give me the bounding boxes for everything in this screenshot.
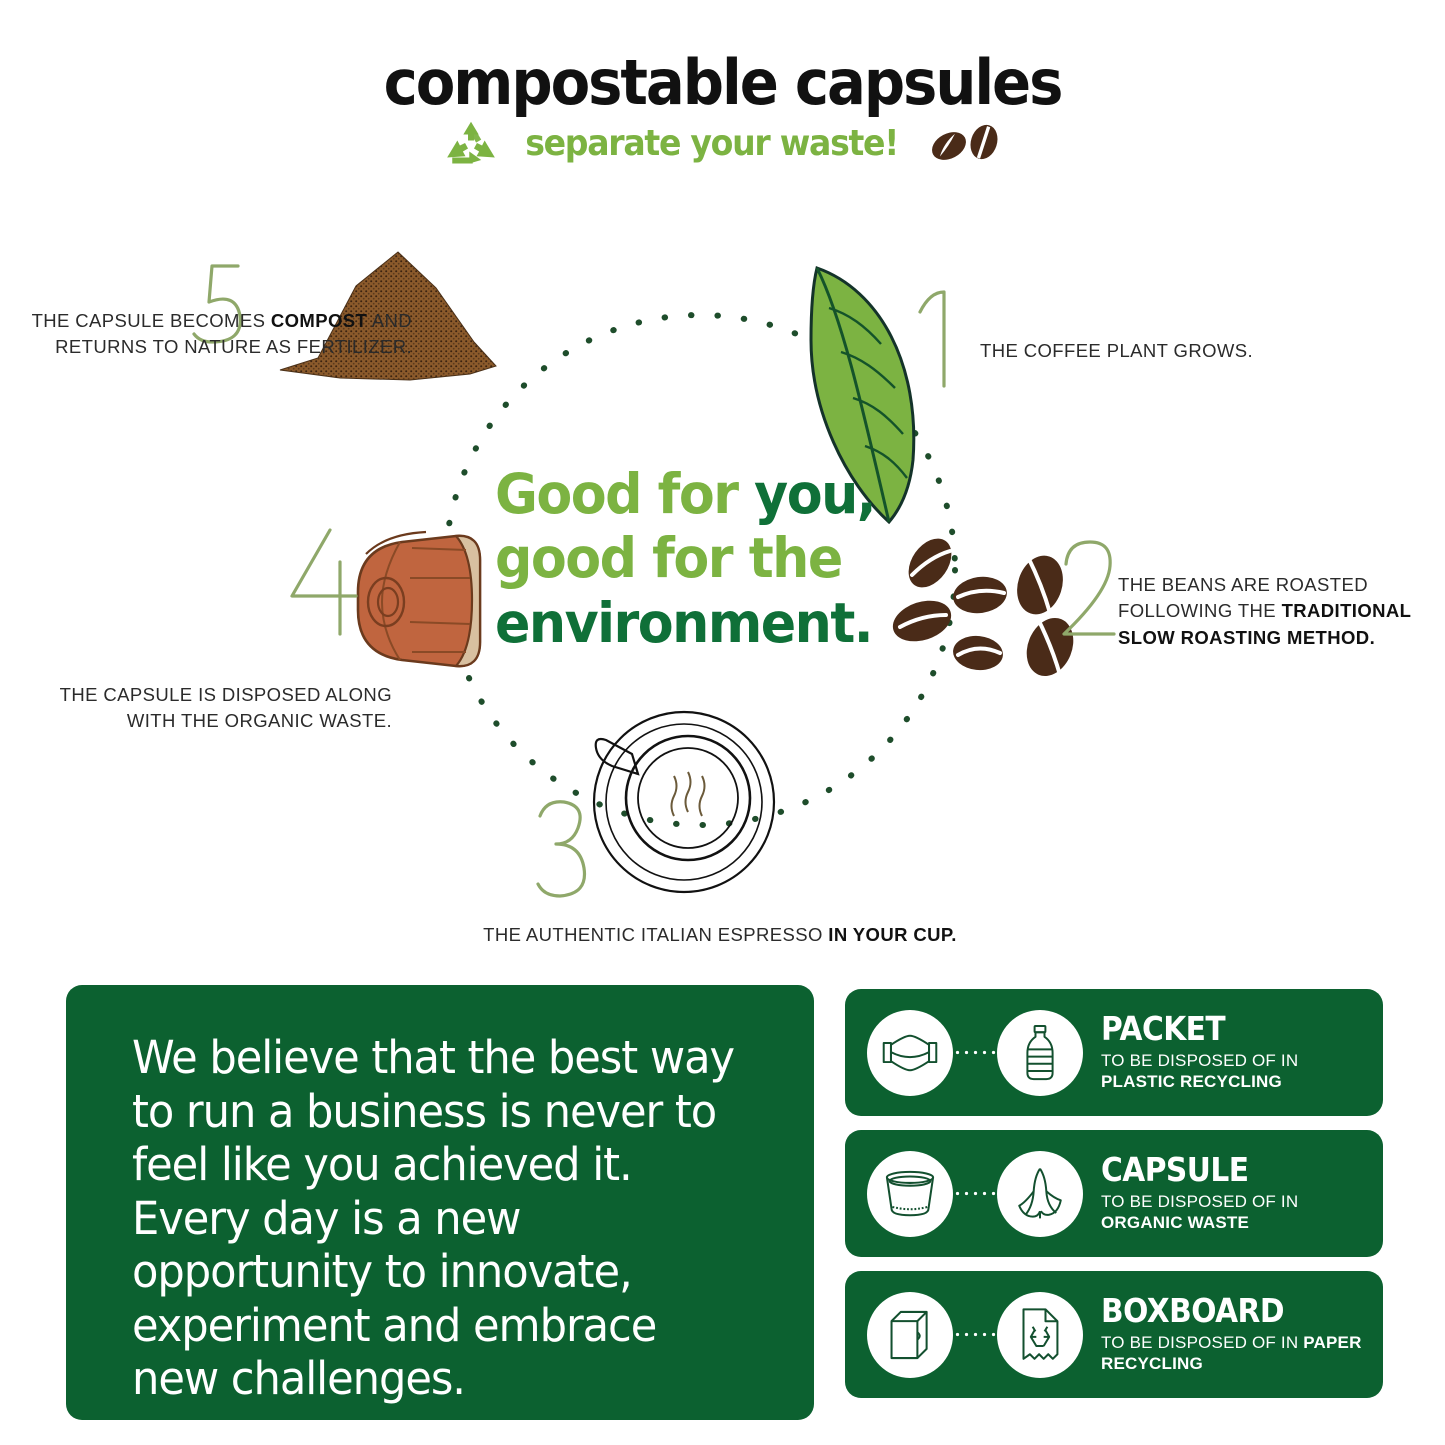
coffee-beans-icon	[928, 118, 1002, 168]
step-number-3	[538, 802, 585, 896]
step5-bold: COMPOST	[271, 310, 367, 331]
step1-text: THE COFFEE PLANT GROWS.	[980, 340, 1253, 361]
step3-text: THE AUTHENTIC ITALIAN ESPRESSO	[483, 924, 828, 945]
banana-peel-icon	[997, 1151, 1083, 1237]
quote-panel: We believe that the best way to run a bu…	[66, 985, 814, 1420]
card-title-boxboard: BOXBOARD	[1101, 1294, 1355, 1327]
packet-sub-bold: PLASTIC RECYCLING	[1101, 1072, 1282, 1091]
card-text-boxboard: BOXBOARD TO BE DISPOSED OF IN PAPER RECY…	[1101, 1294, 1383, 1374]
card-text-packet: PACKET TO BE DISPOSED OF INPLASTIC RECYC…	[1101, 1012, 1298, 1092]
slogan-line3: environment.	[495, 591, 872, 655]
card-title-packet: PACKET	[1101, 1012, 1279, 1045]
recycle-icon	[443, 120, 499, 166]
coffee-capsule-icon	[867, 1151, 953, 1237]
slogan-line2: good for the	[495, 526, 842, 590]
infographic-page: compostable capsules separate your waste…	[0, 0, 1445, 1445]
step-number-1	[920, 292, 944, 386]
slogan-line1-light: Good for	[495, 462, 754, 526]
step-number-2	[1064, 542, 1114, 634]
boxboard-sub-plain: TO BE DISPOSED OF IN	[1101, 1333, 1303, 1352]
bottom-section: We believe that the best way to run a bu…	[0, 985, 1445, 1435]
capsule-sub-plain: TO BE DISPOSED OF IN	[1101, 1192, 1298, 1211]
step-caption-3: THE AUTHENTIC ITALIAN ESPRESSO IN YOUR C…	[400, 922, 1040, 948]
step-number-4	[292, 530, 356, 634]
quote-text: We believe that the best way to run a bu…	[132, 1031, 735, 1406]
disposal-cards: PACKET TO BE DISPOSED OF INPLASTIC RECYC…	[845, 985, 1385, 1420]
espresso-cup-icon	[594, 712, 774, 892]
center-slogan: Good for you, good for the environment.	[495, 462, 894, 655]
coffee-capsule-icon	[358, 532, 480, 666]
packet-sub-plain: TO BE DISPOSED OF IN	[1101, 1051, 1298, 1070]
page-subtitle: separate your waste!	[525, 123, 898, 164]
disposal-card-packet[interactable]: PACKET TO BE DISPOSED OF INPLASTIC RECYC…	[845, 989, 1383, 1116]
step-caption-4: THE CAPSULE IS DISPOSED ALONG WITH THE O…	[40, 682, 392, 735]
card-text-capsule: CAPSULE TO BE DISPOSED OF INORGANIC WAST…	[1101, 1153, 1298, 1233]
disposal-card-capsule[interactable]: CAPSULE TO BE DISPOSED OF INORGANIC WAST…	[845, 1130, 1383, 1257]
carton-box-icon	[867, 1292, 953, 1378]
coffee-beans-group	[888, 531, 1082, 683]
card-sub-packet: TO BE DISPOSED OF INPLASTIC RECYCLING	[1101, 1051, 1298, 1092]
step-caption-2: THE BEANS ARE ROASTED FOLLOWING THE TRAD…	[1118, 572, 1418, 651]
dotted-connector	[953, 1332, 997, 1337]
recyclable-paper-icon	[997, 1292, 1083, 1378]
step-caption-1: THE COFFEE PLANT GROWS.	[980, 338, 1320, 364]
dotted-connector	[953, 1191, 997, 1196]
card-sub-boxboard: TO BE DISPOSED OF IN PAPER RECYCLING	[1101, 1333, 1383, 1374]
sachet-packet-icon	[867, 1010, 953, 1096]
dotted-connector	[953, 1050, 997, 1055]
card-sub-capsule: TO BE DISPOSED OF INORGANIC WASTE	[1101, 1192, 1298, 1233]
slogan-line1-dark: you,	[754, 462, 875, 526]
capsule-sub-bold: ORGANIC WASTE	[1101, 1213, 1249, 1232]
header: compostable capsules separate your waste…	[0, 52, 1445, 168]
disposal-card-boxboard[interactable]: BOXBOARD TO BE DISPOSED OF IN PAPER RECY…	[845, 1271, 1383, 1398]
plastic-bottle-icon	[997, 1010, 1083, 1096]
step4-text: THE CAPSULE IS DISPOSED ALONG WITH THE O…	[60, 684, 392, 731]
card-title-capsule: CAPSULE	[1101, 1153, 1279, 1186]
step5-pre: THE CAPSULE BECOMES	[32, 310, 271, 331]
header-subtitle-row: separate your waste!	[0, 118, 1445, 168]
page-title: compostable capsules	[51, 52, 1395, 114]
step-caption-5: THE CAPSULE BECOMES COMPOST AND RETURNS …	[30, 308, 412, 361]
step3-bold: IN YOUR CUP.	[828, 924, 957, 945]
